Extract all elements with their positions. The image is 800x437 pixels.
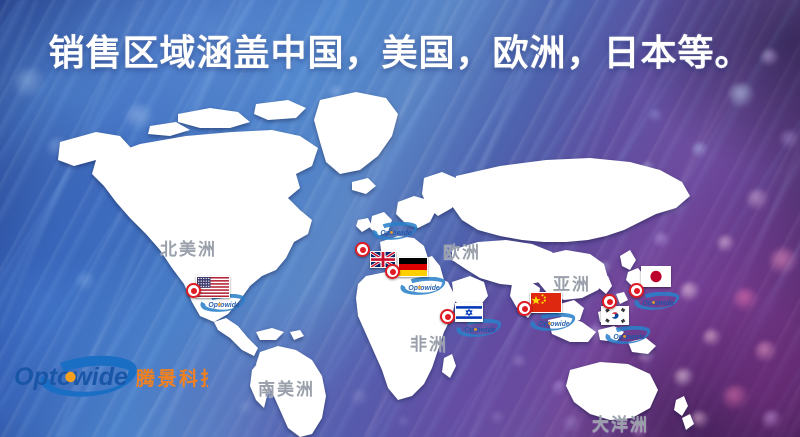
svg-text:Optowide: Optowide: [408, 285, 439, 292]
svg-text:Optowide: Optowide: [208, 302, 239, 309]
logo-dot-icon: [65, 372, 75, 382]
svg-text:Optowide: Optowide: [464, 327, 495, 334]
optowide-marker-china: Optowide: [530, 313, 576, 333]
optowide-marker-germany: Optowide: [400, 277, 446, 297]
company-logo[interactable]: Optowide 腾景科技: [8, 355, 208, 407]
continent-label-north-america: 北美洲: [160, 235, 217, 260]
optowide-marker-israel: Optowide: [456, 319, 502, 339]
svg-text:Optowide: Optowide: [380, 230, 411, 237]
flag-germany-icon[interactable]: [398, 257, 428, 277]
continent-label-africa: 非洲: [410, 330, 448, 355]
logo-chinese-text: 腾景科技: [135, 367, 208, 390]
continent-label-oceania: 大洋洲: [592, 410, 649, 435]
svg-text:Optowide: Optowide: [613, 334, 644, 341]
company-logo-svg: Optowide 腾景科技: [8, 355, 208, 407]
location-pin-united-kingdom[interactable]: [355, 242, 370, 257]
marketing-banner: 北美洲南美洲欧洲非洲亚洲大洋洲 OptowideOptowideOptowide…: [0, 0, 800, 437]
location-pin-south-korea[interactable]: [602, 294, 617, 309]
optowide-marker-south-korea: Optowide: [605, 326, 651, 346]
flag-japan-icon[interactable]: [641, 266, 671, 287]
page-title: 销售区域涵盖中国，美国，欧洲，日本等。: [0, 24, 800, 76]
optowide-marker-united-kingdom: Optowide: [372, 222, 418, 242]
flag-china-icon[interactable]: [530, 292, 562, 313]
location-pin-germany[interactable]: [385, 264, 400, 279]
flag-usa-icon[interactable]: [196, 276, 230, 298]
continent-label-south-america: 南美洲: [258, 375, 315, 400]
location-pin-japan[interactable]: [629, 283, 644, 298]
svg-text:Optowide: Optowide: [538, 321, 569, 328]
continent-label-europe: 欧洲: [443, 238, 481, 263]
svg-text:Optowide: Optowide: [642, 300, 673, 307]
flag-south-korea-icon[interactable]: [601, 306, 629, 325]
flag-israel-icon[interactable]: [455, 303, 483, 322]
location-pin-china[interactable]: [517, 301, 532, 316]
location-pin-usa[interactable]: [186, 283, 201, 298]
location-pin-israel[interactable]: [440, 309, 455, 324]
